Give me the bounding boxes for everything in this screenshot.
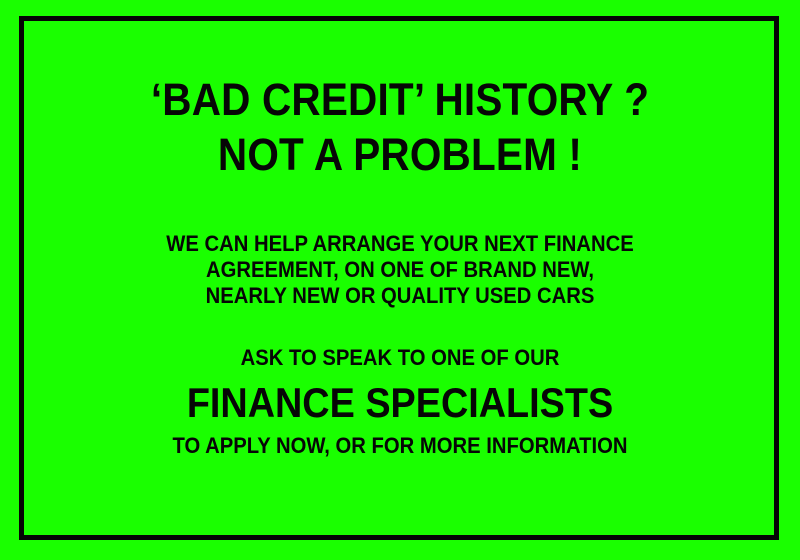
advertisement-poster: ‘BAD CREDIT’ HISTORY ? NOT A PROBLEM ! W… xyxy=(0,0,800,560)
cta-intro-line: ASK TO SPEAK TO ONE OF OUR xyxy=(32,345,768,371)
call-to-action-block: ASK TO SPEAK TO ONE OF OUR FINANCE SPECI… xyxy=(0,345,800,459)
headline-line-2: NOT A PROBLEM ! xyxy=(40,127,760,182)
headline-line-1: ‘BAD CREDIT’ HISTORY ? xyxy=(40,72,760,127)
paragraph-line-1: WE CAN HELP ARRANGE YOUR NEXT FINANCE xyxy=(32,231,768,257)
poster-content: ‘BAD CREDIT’ HISTORY ? NOT A PROBLEM ! W… xyxy=(0,0,800,560)
paragraph-line-2: AGREEMENT, ON ONE OF BRAND NEW, xyxy=(32,257,768,283)
paragraph-line-3: NEARLY NEW OR QUALITY USED CARS xyxy=(32,283,768,309)
headline-block: ‘BAD CREDIT’ HISTORY ? NOT A PROBLEM ! xyxy=(0,72,800,182)
paragraph-block: WE CAN HELP ARRANGE YOUR NEXT FINANCE AG… xyxy=(0,231,800,309)
cta-footer-line: TO APPLY NOW, OR FOR MORE INFORMATION xyxy=(32,433,768,459)
cta-subheadline: FINANCE SPECIALISTS xyxy=(40,379,760,427)
